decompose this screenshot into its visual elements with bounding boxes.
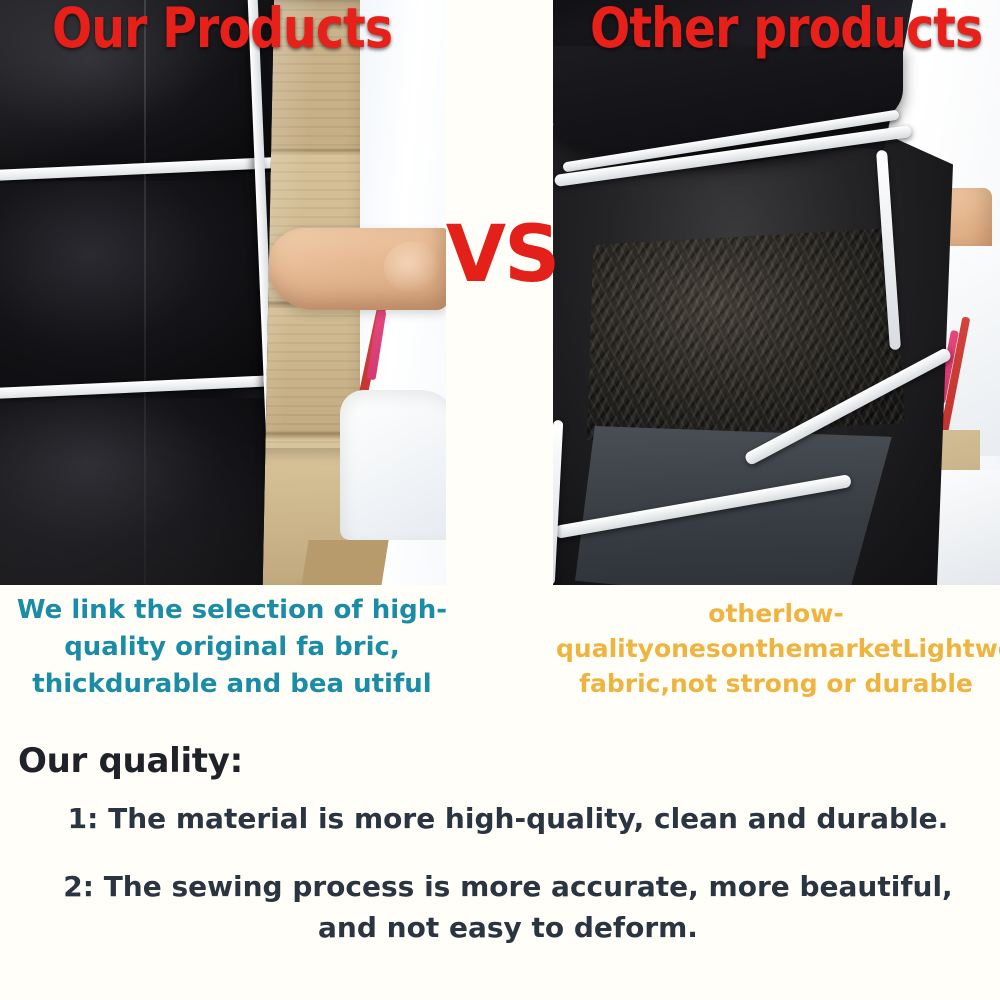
other-product-photo xyxy=(553,0,1000,585)
product-comparison-infographic: Our Products Other products VS We link t… xyxy=(0,0,1000,1000)
quality-heading: Our quality: xyxy=(18,741,243,781)
other-products-caption: otherlow-qualityonesonthemarketLightweig… xyxy=(556,596,996,701)
fabric-sheen xyxy=(0,0,274,585)
our-products-caption: We link the selection of high-quality or… xyxy=(6,592,458,703)
vs-divider-label: VS xyxy=(443,215,561,295)
our-products-header: Our Products xyxy=(52,0,392,56)
our-product-photo xyxy=(0,0,446,585)
quality-item-2: 2: The sewing process is more accurate, … xyxy=(36,866,980,948)
other-products-header: Other products xyxy=(590,0,982,56)
quality-item-1: 1: The material is more high-quality, cl… xyxy=(36,798,980,839)
white-bag xyxy=(340,390,446,540)
other-products-panel xyxy=(553,0,1000,585)
human-arm xyxy=(268,228,446,310)
our-products-panel xyxy=(0,0,446,585)
shelf-organizer xyxy=(0,0,274,585)
